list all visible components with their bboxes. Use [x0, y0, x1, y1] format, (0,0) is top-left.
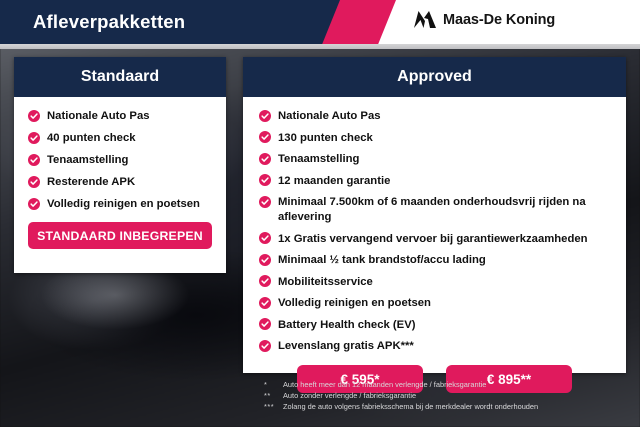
- check-circle-icon: [259, 174, 271, 186]
- feature-label: Nationale Auto Pas: [278, 109, 381, 124]
- check-circle-icon: [28, 176, 40, 188]
- check-circle-icon: [259, 297, 271, 309]
- feature-label: 12 maanden garantie: [278, 174, 390, 189]
- feature-label: 1x Gratis vervangend vervoer bij garanti…: [278, 232, 588, 247]
- brand-logo: Maas-De Koning: [414, 11, 555, 28]
- feature-item: Minimaal 7.500km of 6 maanden onderhouds…: [259, 195, 610, 225]
- feature-label: Tenaamstelling: [278, 152, 359, 167]
- feature-item: 12 maanden garantie: [259, 174, 610, 189]
- check-circle-icon: [259, 153, 271, 165]
- feature-label: Levenslang gratis APK***: [278, 339, 414, 354]
- feature-item: Volledig reinigen en poetsen: [28, 197, 212, 211]
- package-body-approved: Nationale Auto Pas130 punten checkTenaam…: [243, 97, 626, 393]
- feature-item: Nationale Auto Pas: [28, 109, 212, 123]
- package-card-standaard: Standaard Nationale Auto Pas40 punten ch…: [14, 57, 226, 273]
- footnote-text: Zolang de auto volgens fabrieksschema bi…: [283, 401, 538, 412]
- standaard-inbegrepen-button[interactable]: STANDAARD INBEGREPEN: [28, 222, 212, 249]
- feature-label: Battery Health check (EV): [278, 318, 416, 333]
- feature-label: Mobiliteitsservice: [278, 275, 373, 290]
- feature-item: Levenslang gratis APK***: [259, 339, 610, 354]
- check-circle-icon: [28, 198, 40, 210]
- check-circle-icon: [259, 254, 271, 266]
- package-title-approved: Approved: [243, 57, 626, 97]
- check-circle-icon: [259, 196, 271, 208]
- check-circle-icon: [28, 110, 40, 122]
- brand-name: Maas-De Koning: [443, 12, 555, 28]
- check-circle-icon: [259, 318, 271, 330]
- feature-item: Battery Health check (EV): [259, 318, 610, 333]
- header-underline: [0, 44, 640, 49]
- footnote-item: *Auto heeft meer dan 12 maanden verlengd…: [264, 379, 634, 390]
- check-circle-icon: [259, 340, 271, 352]
- feature-item: 130 punten check: [259, 131, 610, 146]
- feature-label: Tenaamstelling: [47, 153, 128, 167]
- page-title: Afleverpakketten: [33, 11, 185, 33]
- feature-label: Volledig reinigen en poetsen: [47, 197, 200, 211]
- feature-item: 40 punten check: [28, 131, 212, 145]
- feature-label: 40 punten check: [47, 131, 136, 145]
- footnote-list: *Auto heeft meer dan 12 maanden verlengd…: [264, 379, 634, 412]
- check-circle-icon: [259, 232, 271, 244]
- feature-item: Resterende APK: [28, 175, 212, 189]
- footnote-marker: ***: [264, 401, 283, 412]
- check-circle-icon: [28, 154, 40, 166]
- package-title-standaard: Standaard: [14, 57, 226, 97]
- maas-de-koning-m-logo-icon: [414, 11, 436, 28]
- feature-label: Minimaal ½ tank brandstof/accu lading: [278, 253, 486, 268]
- feature-label: 130 punten check: [278, 131, 373, 146]
- check-circle-icon: [259, 110, 271, 122]
- footnote-marker: *: [264, 379, 283, 390]
- feature-item: Mobiliteitsservice: [259, 275, 610, 290]
- feature-item: 1x Gratis vervangend vervoer bij garanti…: [259, 232, 610, 247]
- footnote-marker: **: [264, 390, 283, 401]
- feature-label: Nationale Auto Pas: [47, 109, 150, 123]
- check-circle-icon: [259, 275, 271, 287]
- feature-label: Volledig reinigen en poetsen: [278, 296, 431, 311]
- feature-item: Tenaamstelling: [28, 153, 212, 167]
- feature-label: Resterende APK: [47, 175, 135, 189]
- feature-item: Tenaamstelling: [259, 152, 610, 167]
- package-card-approved: Approved Nationale Auto Pas130 punten ch…: [243, 57, 626, 373]
- footnote-text: Auto zonder verlengde / fabrieksgarantie: [283, 390, 416, 401]
- footnote-item: ***Zolang de auto volgens fabrieksschema…: [264, 401, 634, 412]
- footnote-text: Auto heeft meer dan 12 maanden verlengde…: [283, 379, 486, 390]
- feature-item: Minimaal ½ tank brandstof/accu lading: [259, 253, 610, 268]
- afleverpakketten-screen: Afleverpakketten Maas-De Koning Standaar…: [0, 0, 640, 427]
- footnote-item: **Auto zonder verlengde / fabrieksgarant…: [264, 390, 634, 401]
- feature-item: Nationale Auto Pas: [259, 109, 610, 124]
- check-circle-icon: [259, 131, 271, 143]
- feature-item: Volledig reinigen en poetsen: [259, 296, 610, 311]
- feature-list-standaard: Nationale Auto Pas40 punten checkTenaams…: [28, 109, 212, 211]
- check-circle-icon: [28, 132, 40, 144]
- package-body-standaard: Nationale Auto Pas40 punten checkTenaams…: [14, 97, 226, 249]
- feature-list-approved: Nationale Auto Pas130 punten checkTenaam…: [259, 109, 610, 354]
- feature-label: Minimaal 7.500km of 6 maanden onderhouds…: [278, 195, 610, 225]
